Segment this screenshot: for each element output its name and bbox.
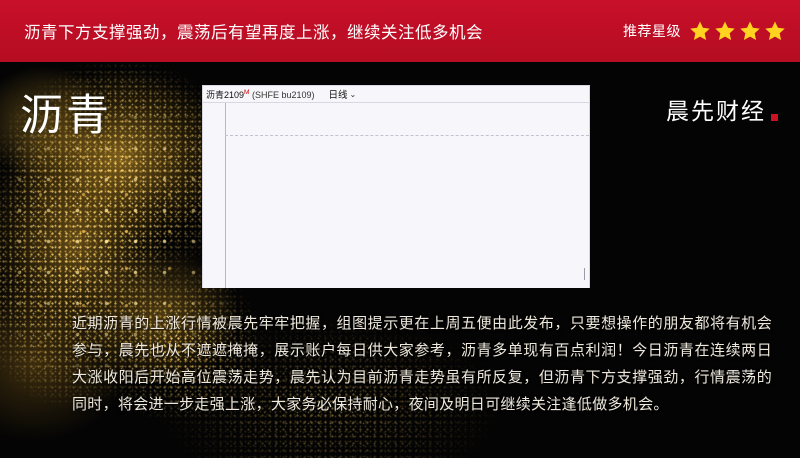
star-icon [689,20,711,42]
grid-line [225,135,589,136]
timeframe-selector[interactable]: 日线 ⌄ [329,87,357,101]
star-icon [714,20,736,42]
brand-name: 晨先财经 [666,92,766,126]
timeframe-label: 日线 [329,87,348,101]
chart-header: 沥青2109M (SHFE bu2109) 日线 ⌄ [203,86,589,103]
symbol-code: (SHFE bu2109) [252,90,315,100]
chevron-down-icon: ⌄ [350,90,357,99]
page-title: 沥青 [20,95,112,138]
y-axis-line [225,103,226,288]
star-icon [764,20,786,42]
article-paragraph: 近期沥青的上涨行情被晨先牢牢把握，组图提示更在上周五便由此发布，只要想操作的朋友… [72,310,772,418]
headline-text: 沥青下方支撑强劲，震荡后有望再度上涨，继续关注低多机会 [24,19,483,43]
rating-group: 推荐星级 [623,0,786,62]
rating-label: 推荐星级 [623,21,681,41]
symbol-name: 沥青2109 [206,90,244,100]
symbol-superscript: M [244,89,249,96]
brand-logo: 晨先财经 [666,92,778,126]
header-banner: 沥青下方支撑强劲，震荡后有望再度上涨，继续关注低多机会 推荐星级 [0,0,800,62]
brand-dot-icon [771,114,778,121]
star-icon [739,20,761,42]
axis-end-tick [584,268,585,280]
chart-symbol: 沥青2109M (SHFE bu2109) [206,88,315,101]
chart-panel: 沥青2109M (SHFE bu2109) 日线 ⌄ [202,85,590,288]
star-rating [689,20,786,42]
chart-plot-area[interactable] [203,103,589,288]
article-body: 近期沥青的上涨行情被晨先牢牢把握，组图提示更在上周五便由此发布，只要想操作的朋友… [72,310,772,418]
